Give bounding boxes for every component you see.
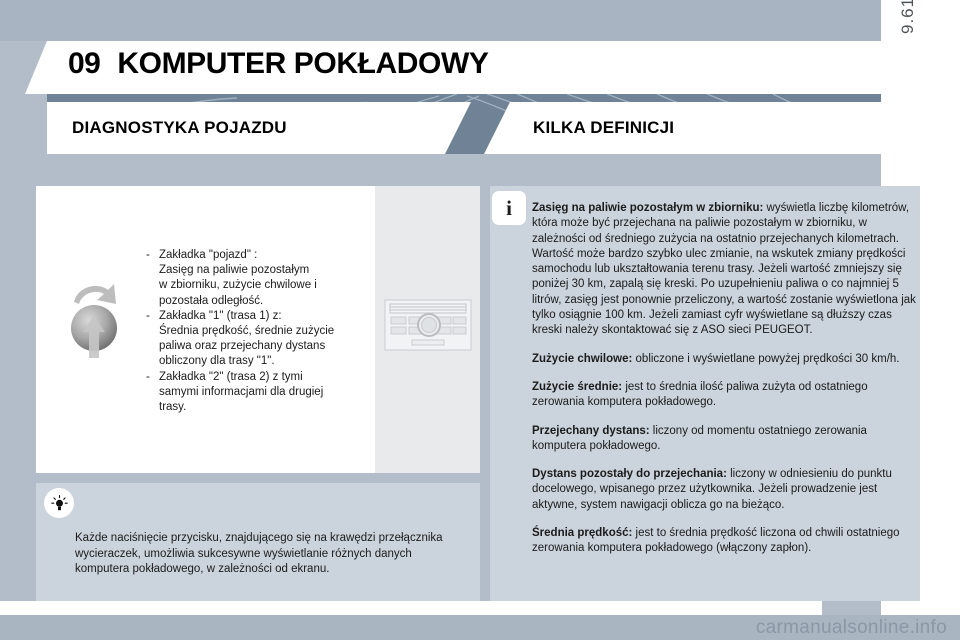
- definition-item: Zasięg na paliwie pozostałym w zbiorniku…: [532, 201, 918, 339]
- list-marker: -: [146, 248, 153, 309]
- list-item: - Zakładka "1" (trasa 1) z: Średnia pręd…: [146, 309, 376, 370]
- page-number: 9.61: [898, 0, 918, 34]
- rotary-button-illustration: [58, 274, 130, 369]
- list-line: pozostała odległość.: [159, 295, 263, 307]
- list-item-text: Zakładka "2" (trasa 2) z tymi samymi inf…: [159, 370, 376, 416]
- list-item-text: Zakładka "pojazd" : Zasięg na paliwie po…: [159, 248, 376, 309]
- list-line: w zbiorniku, zużycie chwilowe i: [159, 279, 317, 291]
- list-marker: -: [146, 309, 153, 370]
- info-icon-glyph: i: [506, 198, 512, 219]
- tip-note-box: Każde naciśnięcie przycisku, znajdująceg…: [36, 483, 480, 601]
- definition-term: Przejechany dystans:: [532, 425, 650, 437]
- list-line: Zakładka "pojazd" :: [159, 249, 257, 261]
- definition-item: Zużycie średnie: jest to średnia ilość p…: [532, 380, 918, 411]
- definition-term: Zasięg na paliwie pozostałym w zbiorniku…: [532, 202, 763, 214]
- list-marker: -: [146, 370, 153, 416]
- list-line: Średnia prędkość, średnie zużycie: [159, 325, 334, 337]
- bottom-white-strip: [0, 601, 822, 615]
- definition-item: Przejechany dystans: liczony od momentu …: [532, 424, 918, 455]
- definition-term: Średnia prędkość:: [532, 527, 632, 539]
- definition-term: Dystans pozostały do przejechania:: [532, 468, 727, 480]
- info-icon: i: [492, 191, 526, 225]
- header-underline-strip: [47, 154, 881, 166]
- section-heading-definitions: KILKA DEFINICJI: [533, 118, 674, 138]
- section-header-left: DIAGNOSTYKA POJAZDU: [47, 102, 445, 154]
- rotary-knob-icon: [58, 274, 130, 369]
- section-heading-diagnostics: DIAGNOSTYKA POJAZDU: [72, 118, 287, 138]
- list-item: - Zakładka "pojazd" : Zasięg na paliwie …: [146, 248, 376, 309]
- list-line: trasy.: [159, 401, 186, 413]
- top-band: [0, 0, 881, 41]
- definition-item: Dystans pozostały do przejechania: liczo…: [532, 467, 918, 513]
- definition-term: Zużycie średnie:: [532, 381, 622, 393]
- definition-body: obliczone i wyświetlane powyżej prędkośc…: [632, 353, 899, 365]
- car-console-illustration: [384, 299, 472, 351]
- right-column: i Zasięg na paliwie pozostałym w zbiorni…: [490, 186, 920, 601]
- section-header-right: KILKA DEFINICJI: [510, 102, 881, 154]
- definition-item: Średnia prędkość: jest to średnia prędko…: [532, 526, 918, 557]
- list-line: obliczony dla trasy "1".: [159, 355, 275, 367]
- list-line: samymi informacjami dla drugiej: [159, 386, 323, 398]
- manual-page: 9.61 09 KOMPUTER POKŁADOWY: [0, 0, 960, 640]
- list-item-text: Zakładka "1" (trasa 1) z: Średnia prędko…: [159, 309, 376, 370]
- car-audio-console-icon: [384, 299, 472, 351]
- tip-note-text: Każde naciśnięcie przycisku, znajdująceg…: [75, 531, 465, 578]
- chapter-number: 09: [68, 47, 100, 81]
- watermark: carmanualsonline.info: [756, 617, 947, 639]
- page-title: KOMPUTER POKŁADOWY: [117, 47, 488, 81]
- definitions-list: Zasięg na paliwie pozostałym w zbiorniku…: [532, 201, 918, 557]
- list-line: paliwa oraz przejechany dystans: [159, 340, 325, 352]
- definition-body: wyświetla liczbę kilometrów, która może …: [532, 202, 916, 336]
- definition-term: Zużycie chwilowe:: [532, 353, 632, 365]
- diagnostics-list: - Zakładka "pojazd" : Zasięg na paliwie …: [146, 248, 376, 415]
- definition-item: Zużycie chwilowe: obliczone i wyświetlan…: [532, 352, 918, 367]
- list-line: Zasięg na paliwie pozostałym: [159, 264, 309, 276]
- left-content-panel: - Zakładka "pojazd" : Zasięg na paliwie …: [36, 186, 480, 473]
- list-line: Zakładka "1" (trasa 1) z:: [159, 310, 282, 322]
- lightbulb-icon-glyph: [51, 495, 68, 512]
- left-column: - Zakładka "pojazd" : Zasięg na paliwie …: [36, 186, 480, 601]
- list-item: - Zakładka "2" (trasa 2) z tymi samymi i…: [146, 370, 376, 416]
- chapter-title-bar: 09 KOMPUTER POKŁADOWY: [47, 41, 881, 94]
- lightbulb-tip-icon: [44, 488, 74, 518]
- list-line: Zakładka "2" (trasa 2) z tymi: [159, 371, 303, 383]
